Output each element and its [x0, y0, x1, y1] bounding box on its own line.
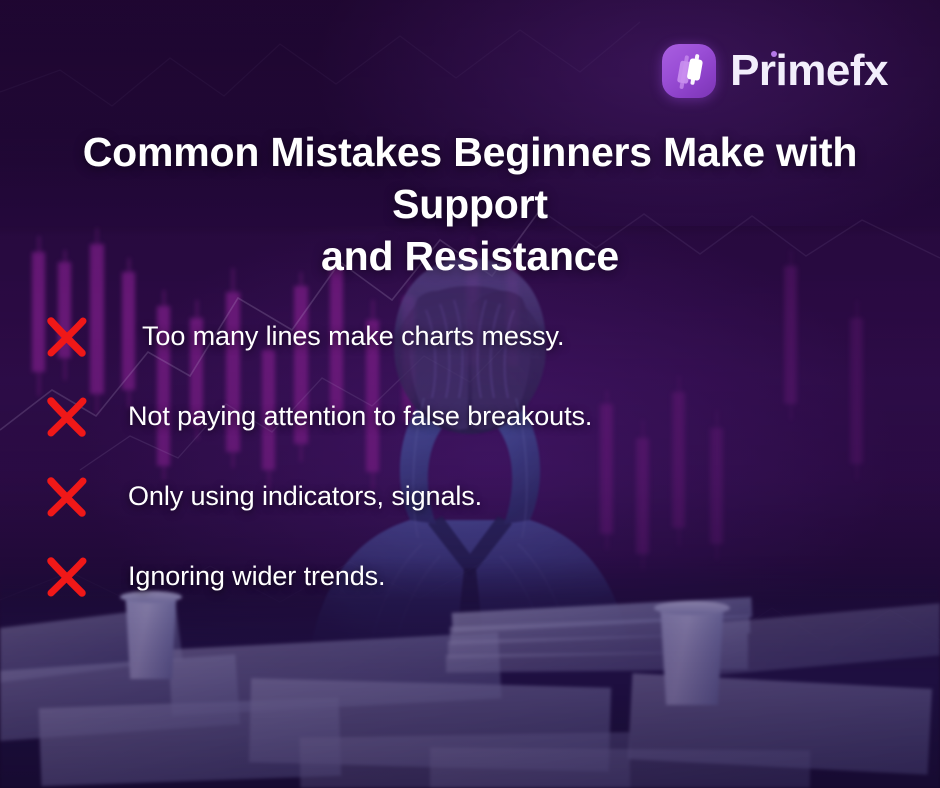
mistakes-list: Too many lines make charts messy. Not pa… — [0, 296, 940, 616]
red-x-icon — [44, 553, 90, 599]
candlestick-icon — [662, 44, 716, 98]
brand-i-dot — [771, 51, 777, 57]
red-x-icon — [44, 473, 90, 519]
brand-logo[interactable]: Primefx — [662, 44, 888, 98]
brand-name: Primefx — [730, 49, 888, 93]
list-item: Ignoring wider trends. — [0, 536, 940, 616]
page-title-line1: Common Mistakes Beginners Make with Supp… — [8, 126, 932, 230]
red-x-icon — [44, 393, 90, 439]
page-title: Common Mistakes Beginners Make with Supp… — [8, 126, 932, 282]
red-x-icon — [44, 313, 90, 359]
list-item-label: Only using indicators, signals. — [128, 481, 482, 512]
list-item: Only using indicators, signals. — [0, 456, 940, 536]
poster-canvas: Primefx Common Mistakes Beginners Make w… — [0, 0, 940, 788]
page-title-line2: and Resistance — [8, 230, 932, 282]
list-item-label: Ignoring wider trends. — [128, 561, 385, 592]
list-item-label: Not paying attention to false breakouts. — [128, 401, 592, 432]
list-item-label: Too many lines make charts messy. — [142, 321, 564, 352]
list-item: Too many lines make charts messy. — [0, 296, 940, 376]
list-item: Not paying attention to false breakouts. — [0, 376, 940, 456]
